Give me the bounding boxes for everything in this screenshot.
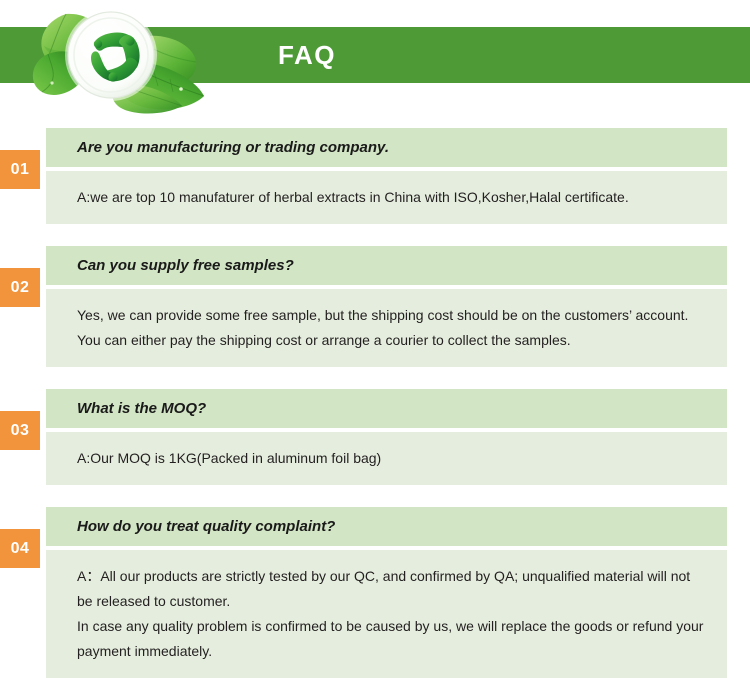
faq-answer-line: A:we are top 10 manufaturer of herbal ex… bbox=[77, 185, 709, 210]
faq-question: What is the MOQ? bbox=[46, 389, 727, 428]
faq-answer: A:Our MOQ is 1KG(Packed in aluminum foil… bbox=[46, 432, 727, 485]
faq-answer-line: A:Our MOQ is 1KG(Packed in aluminum foil… bbox=[77, 446, 709, 471]
faq-number-badge: 01 bbox=[0, 150, 40, 189]
logo-disc bbox=[65, 9, 157, 101]
faq-question: How do you treat quality complaint? bbox=[46, 507, 727, 546]
faq-answer: Yes, we can provide some free sample, bu… bbox=[46, 289, 727, 367]
faq-answer: A：All our products are strictly tested b… bbox=[46, 550, 727, 678]
company-leaf-recycle-logo bbox=[18, 0, 218, 115]
faq-item: 04 How do you treat quality complaint? A… bbox=[0, 507, 750, 678]
faq-question: Can you supply free samples? bbox=[46, 246, 727, 285]
faq-number-badge: 04 bbox=[0, 529, 40, 568]
faq-item: 03 What is the MOQ? A:Our MOQ is 1KG(Pac… bbox=[0, 389, 750, 485]
faq-list: 01 Are you manufacturing or trading comp… bbox=[0, 128, 750, 678]
faq-question: Are you manufacturing or trading company… bbox=[46, 128, 727, 167]
faq-item: 01 Are you manufacturing or trading comp… bbox=[0, 128, 750, 224]
page-header: FAQ bbox=[0, 0, 750, 128]
faq-answer: A:we are top 10 manufaturer of herbal ex… bbox=[46, 171, 727, 224]
faq-answer-line: In case any quality problem is confirmed… bbox=[77, 614, 709, 664]
faq-answer-line: A：All our products are strictly tested b… bbox=[77, 564, 709, 614]
faq-item: 02 Can you supply free samples? Yes, we … bbox=[0, 246, 750, 367]
faq-answer-line: Yes, we can provide some free sample, bu… bbox=[77, 303, 709, 353]
page-title: FAQ bbox=[278, 38, 336, 72]
faq-number-badge: 03 bbox=[0, 411, 40, 450]
faq-number-badge: 02 bbox=[0, 268, 40, 307]
